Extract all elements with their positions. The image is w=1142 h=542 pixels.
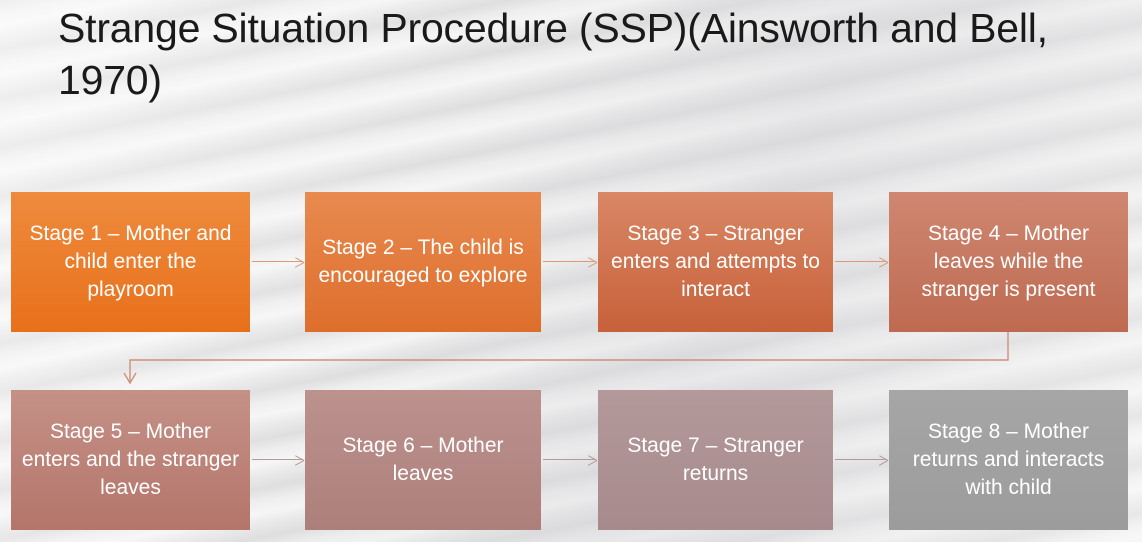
flow-box-stage-2-label: Stage 2 – The child is encouraged to exp…	[313, 234, 533, 290]
slide-canvas: Strange Situation Procedure (SSP)(Ainswo…	[0, 0, 1142, 542]
flow-box-stage-6-label: Stage 6 – Mother leaves	[313, 432, 533, 488]
arrow-icon-stage-1-to-2	[252, 255, 303, 269]
elbow-arrow-head	[124, 373, 136, 383]
flow-box-stage-8-label: Stage 8 – Mother returns and interacts w…	[897, 418, 1120, 502]
flow-box-stage-7-label: Stage 7 – Stranger returns	[606, 432, 825, 488]
arrow-shaft	[543, 261, 596, 262]
arrow-head	[587, 455, 596, 466]
arrow-icon-stage-5-to-6	[252, 453, 303, 467]
arrow-head	[878, 455, 887, 466]
arrow-head	[294, 257, 303, 268]
arrow-head	[587, 257, 596, 268]
flow-box-stage-4-label: Stage 4 – Mother leaves while the strang…	[897, 220, 1120, 304]
arrow-shaft	[252, 459, 303, 460]
arrow-shaft	[835, 459, 887, 460]
arrow-icon-stage-6-to-7	[543, 453, 596, 467]
flow-box-stage-1[interactable]: Stage 1 – Mother and child enter the pla…	[11, 192, 250, 332]
arrow-shaft	[835, 261, 887, 262]
flow-box-stage-2[interactable]: Stage 2 – The child is encouraged to exp…	[305, 192, 541, 332]
flow-box-stage-7[interactable]: Stage 7 – Stranger returns	[598, 390, 833, 530]
arrow-head	[294, 455, 303, 466]
elbow-connector-path	[130, 332, 1008, 382]
arrow-shaft	[543, 459, 596, 460]
arrow-shaft	[252, 261, 303, 262]
flow-box-stage-3-label: Stage 3 – Stranger enters and attempts t…	[606, 220, 825, 304]
arrow-head	[878, 257, 887, 268]
page-title: Strange Situation Procedure (SSP)(Ainswo…	[58, 2, 1068, 106]
arrow-icon-stage-7-to-8	[835, 453, 887, 467]
flow-box-stage-5-label: Stage 5 – Mother enters and the stranger…	[19, 418, 242, 502]
arrow-icon-stage-3-to-4	[835, 255, 887, 269]
flow-box-stage-5[interactable]: Stage 5 – Mother enters and the stranger…	[11, 390, 250, 530]
flow-box-stage-1-label: Stage 1 – Mother and child enter the pla…	[19, 220, 242, 304]
flow-box-stage-3[interactable]: Stage 3 – Stranger enters and attempts t…	[598, 192, 833, 332]
flow-box-stage-4[interactable]: Stage 4 – Mother leaves while the strang…	[889, 192, 1128, 332]
flow-box-stage-8[interactable]: Stage 8 – Mother returns and interacts w…	[889, 390, 1128, 530]
flow-box-stage-6[interactable]: Stage 6 – Mother leaves	[305, 390, 541, 530]
arrow-icon-stage-2-to-3	[543, 255, 596, 269]
